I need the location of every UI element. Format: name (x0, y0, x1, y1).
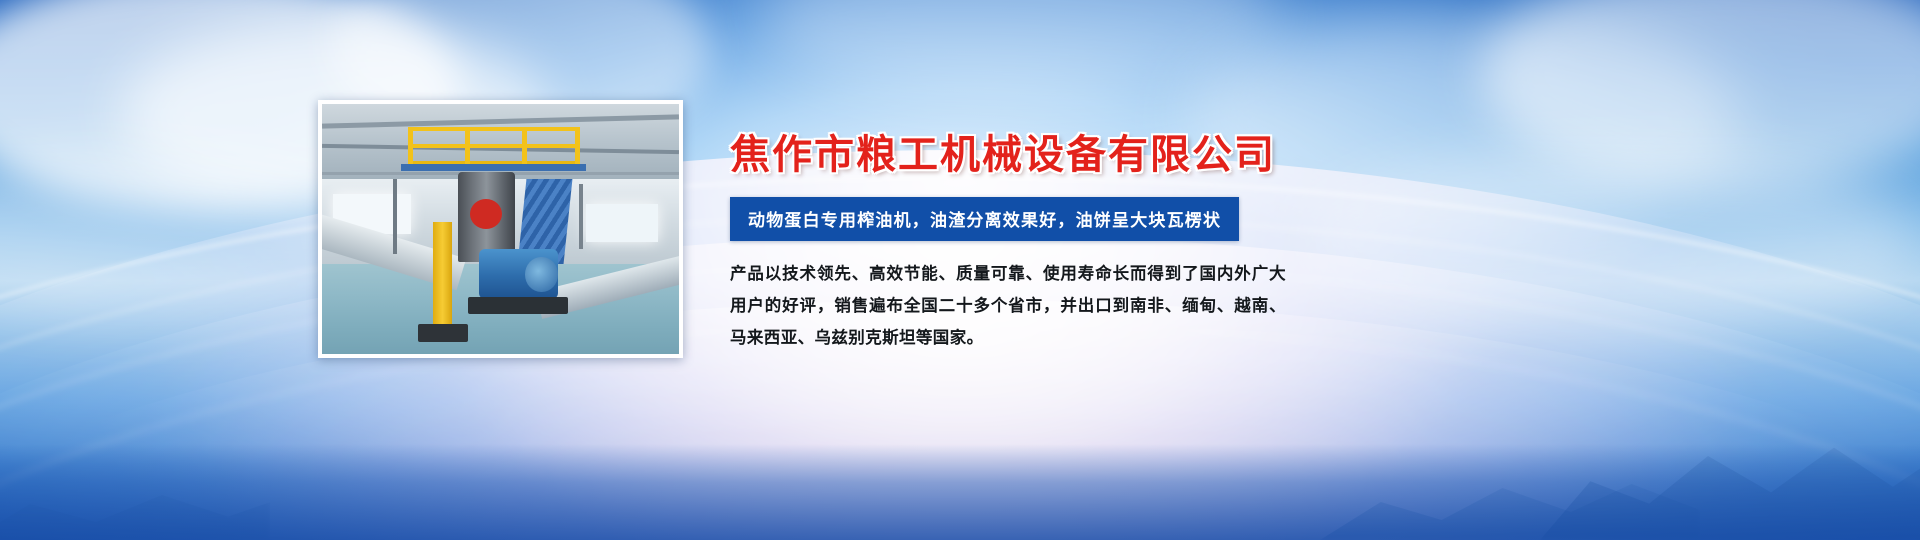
photo-pipe (579, 184, 583, 249)
photo-window (586, 204, 657, 242)
company-description: 产品以技术领先、高效节能、质量可靠、使用寿命长而得到了国内外广大用户的好评，销售… (730, 259, 1286, 354)
product-photo-frame (318, 100, 683, 358)
photo-yellow-railing (408, 127, 579, 167)
photo-yellow-column (433, 222, 453, 332)
water-band (0, 444, 1920, 540)
photo-rail-post (465, 127, 470, 170)
product-tagline-badge: 动物蛋白专用榨油机，油渣分离效果好，油饼呈大块瓦楞状 (730, 197, 1239, 241)
oil-press-machine-photo (322, 104, 679, 354)
photo-rail-post (522, 127, 527, 170)
banner-text-column: 焦作市粮工机械设备有限公司 动物蛋白专用榨油机，油渣分离效果好，油饼呈大块瓦楞状… (730, 132, 1430, 354)
photo-mezzanine-deck (401, 164, 587, 171)
photo-motor-face (525, 257, 557, 292)
photo-rail-post (408, 127, 413, 170)
photo-machine-base (468, 297, 568, 315)
photo-tank-logo (470, 199, 502, 229)
photo-column-base (418, 324, 468, 342)
promo-banner: 焦作市粮工机械设备有限公司 动物蛋白专用榨油机，油渣分离效果好，油饼呈大块瓦楞状… (0, 0, 1920, 540)
photo-pipe (393, 179, 397, 254)
company-title: 焦作市粮工机械设备有限公司 (730, 132, 1430, 179)
photo-rail-post (575, 127, 580, 170)
